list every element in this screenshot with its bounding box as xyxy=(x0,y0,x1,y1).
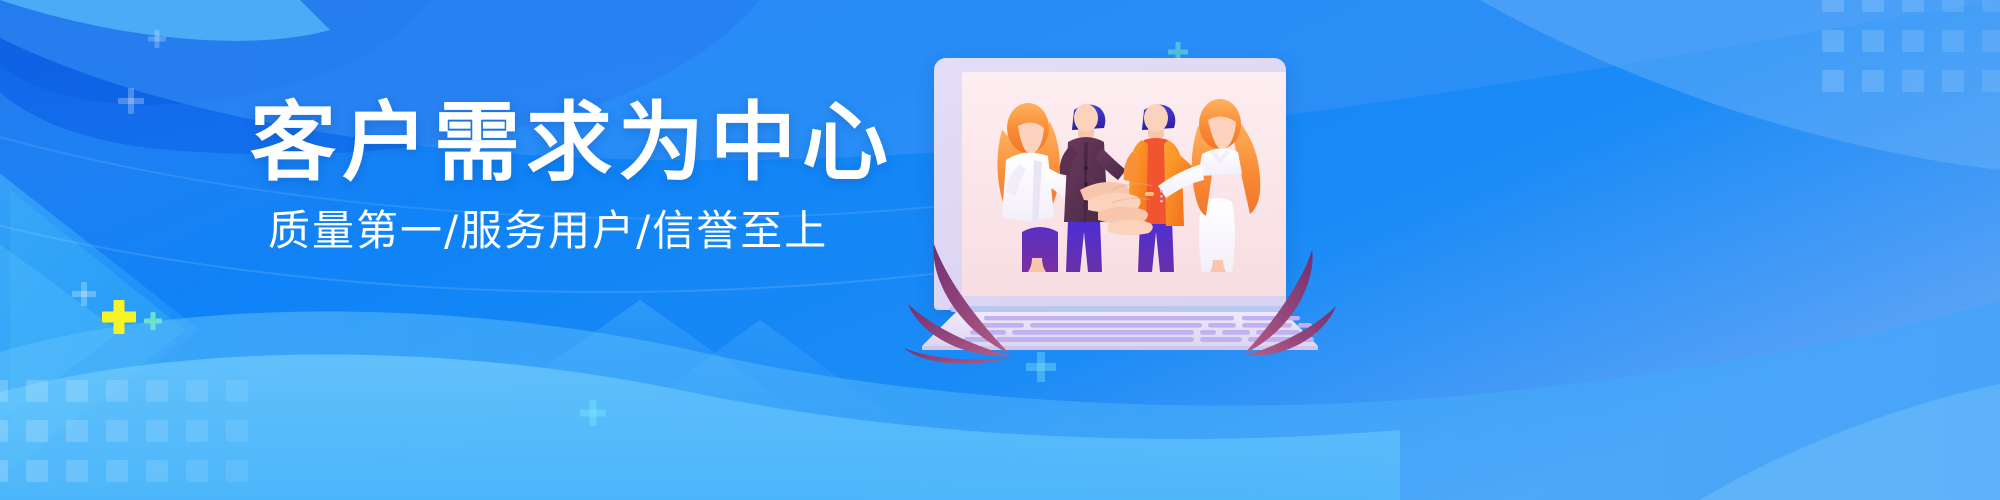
laptop-keyboard xyxy=(920,306,1320,350)
teamwork-scene xyxy=(962,72,1286,296)
copy-block: 客户需求为中心 质量第一/服务用户/信誉至上 xyxy=(250,100,890,252)
laptop-screen xyxy=(962,72,1286,296)
laptop-teamwork-illustration xyxy=(920,58,1320,348)
laptop-base xyxy=(920,306,1320,350)
promo-banner: 客户需求为中心 质量第一/服务用户/信誉至上 xyxy=(0,0,2000,500)
page-title: 客户需求为中心 xyxy=(250,100,890,186)
page-subtitle: 质量第一/服务用户/信誉至上 xyxy=(268,210,890,252)
laptop-hinge xyxy=(950,306,1290,312)
laptop-lid xyxy=(934,58,1286,310)
